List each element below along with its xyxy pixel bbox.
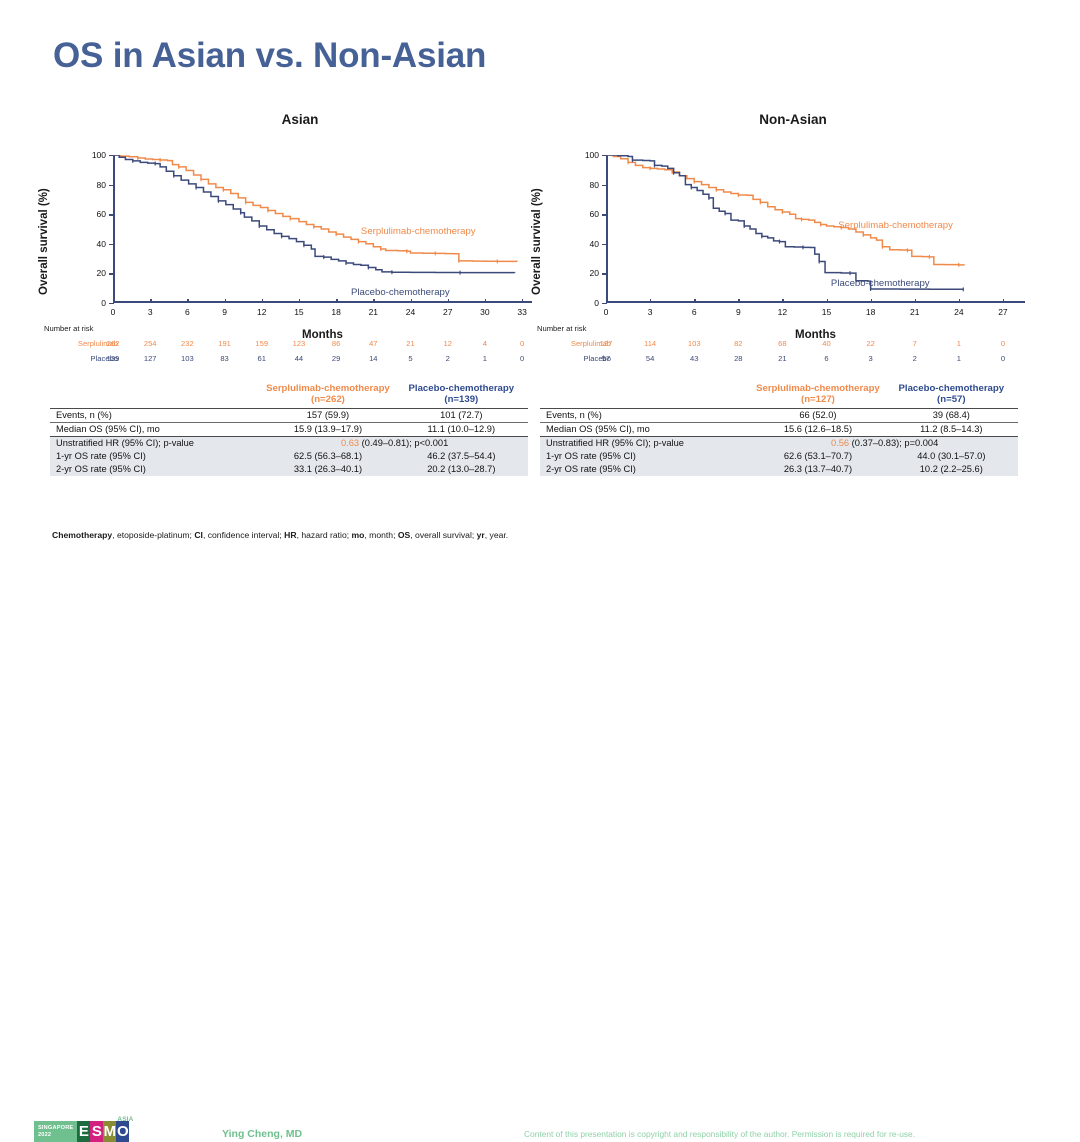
risk-value: 123: [293, 339, 306, 348]
x-tick-label: 30: [480, 307, 489, 317]
number-at-risk-title: Number at risk: [537, 324, 586, 333]
logo-year: 2022: [38, 1132, 73, 1139]
table-header-arm-a: Serplulimab-chemotherapy(n=262): [261, 381, 394, 408]
y-tick-label: 0: [594, 298, 599, 308]
risk-value: 2: [913, 354, 917, 363]
logo-letter-s: S: [90, 1121, 103, 1142]
x-tick-label: 12: [778, 307, 787, 317]
risk-value: 191: [218, 339, 231, 348]
table-row: 1-yr OS rate (95% CI)62.6 (53.1–70.7)44.…: [540, 450, 1018, 463]
table-row-label: Median OS (95% CI), mo: [540, 422, 751, 436]
table-header-arm-a: Serplulimab-chemotherapy(n=127): [751, 381, 884, 408]
x-tick-label: 15: [822, 307, 831, 317]
y-axis-label: Overall survival (%): [531, 188, 543, 295]
y-tick-label: 20: [590, 268, 599, 278]
table-cell-arm-b: 11.2 (8.5–14.3): [885, 422, 1018, 436]
risk-value: 21: [778, 354, 786, 363]
arm-a-n: (n=262): [263, 394, 392, 406]
table-row-hr-value: 0.56 (0.37–0.83); p=0.004: [751, 436, 1018, 450]
risk-value: 57: [602, 354, 610, 363]
table-cell-arm-b: 11.1 (10.0–12.9): [395, 422, 528, 436]
risk-value: 3: [869, 354, 873, 363]
logo-region: ASIA: [117, 1116, 133, 1123]
panel-non-asian: Non-AsianOverall survival (%)02040608010…: [533, 112, 1033, 318]
table-row-label: Unstratified HR (95% CI); p-value: [540, 436, 751, 450]
y-tick-label: 100: [92, 150, 106, 160]
table-header-row: Serplulimab-chemotherapy(n=262)Placebo-c…: [50, 381, 528, 408]
x-tick-label: 0: [111, 307, 116, 317]
x-tick-label: 6: [692, 307, 697, 317]
table-row-hr-value: 0.63 (0.49–0.81); p<0.001: [261, 436, 528, 450]
table-cell-arm-b: 10.2 (2.2–25.6): [885, 463, 1018, 476]
risk-value: 54: [646, 354, 654, 363]
arm-a-n: (n=127): [753, 394, 882, 406]
table-row: Median OS (95% CI), mo15.9 (13.9–17.9)11…: [50, 422, 528, 436]
copyright-notice: Content of this presentation is copyrigh…: [524, 1129, 915, 1139]
slide-footer: SINGAPORE 2022 E S M O ASIA Ying Cheng, …: [0, 560, 1080, 608]
table-header-arm-b: Placebo-chemotherapy(n=57): [885, 381, 1018, 408]
x-tick-label: 21: [369, 307, 378, 317]
chart-title-non-asian: Non-Asian: [533, 112, 1033, 127]
table-row-label: 2-yr OS rate (95% CI): [540, 463, 751, 476]
risk-value: 0: [1001, 339, 1005, 348]
footnote-part-2: CI: [194, 530, 203, 540]
risk-value: 21: [406, 339, 414, 348]
table-row: Events, n (%)157 (59.9)101 (72.7): [50, 408, 528, 422]
table-row: 1-yr OS rate (95% CI)62.5 (56.3–68.1)46.…: [50, 450, 528, 463]
risk-row: Placebo575443282163210: [533, 354, 1033, 367]
logo-letter-o: O: [116, 1121, 129, 1142]
table-cell-arm-a: 62.6 (53.1–70.7): [751, 450, 884, 463]
results-table-non-asian: Serplulimab-chemotherapy(n=127)Placebo-c…: [540, 381, 1018, 476]
table-cell-arm-a: 15.6 (12.6–18.5): [751, 422, 884, 436]
table-cell-arm-a: 33.1 (26.3–40.1): [261, 463, 394, 476]
table-row: Unstratified HR (95% CI); p-value0.56 (0…: [540, 436, 1018, 450]
table-cell-arm-a: 66 (52.0): [751, 408, 884, 422]
logo-city: SINGAPORE: [38, 1125, 73, 1132]
y-tick: [109, 303, 114, 304]
x-tick-label: 27: [443, 307, 452, 317]
risk-value: 29: [332, 354, 340, 363]
curve-serplulimab: [606, 155, 965, 265]
x-tick-label: 24: [954, 307, 963, 317]
curve-placebo: [113, 155, 515, 273]
risk-value: 1: [957, 354, 961, 363]
arm-b-name: Placebo-chemotherapy: [887, 383, 1016, 395]
risk-value: 2: [446, 354, 450, 363]
x-tick-label: 3: [148, 307, 153, 317]
footnote-part-9: , overall survival;: [410, 530, 476, 540]
footnote-part-10: yr: [477, 530, 485, 540]
y-tick-label: 0: [101, 298, 106, 308]
x-tick-label: 24: [406, 307, 415, 317]
x-tick-label: 9: [736, 307, 741, 317]
table-cell-arm-b: 39 (68.4): [885, 408, 1018, 422]
arm-b-name: Placebo-chemotherapy: [397, 383, 526, 395]
y-tick-label: 40: [590, 239, 599, 249]
risk-value: 47: [369, 339, 377, 348]
x-tick-label: 21: [910, 307, 919, 317]
table-row-label: 1-yr OS rate (95% CI): [50, 450, 261, 463]
risk-value: 139: [107, 354, 120, 363]
curve-label-placebo: Placebo-chemotherapy: [351, 287, 450, 298]
x-tick-label: 3: [648, 307, 653, 317]
risk-value: 232: [181, 339, 194, 348]
risk-value: 127: [600, 339, 613, 348]
hr-ci-pvalue: (0.49–0.81); p<0.001: [359, 438, 448, 448]
risk-value: 12: [443, 339, 451, 348]
survival-curves: [606, 155, 1025, 303]
table-cell-arm-b: 44.0 (30.1–57.0): [885, 450, 1018, 463]
table-row-label: 2-yr OS rate (95% CI): [50, 463, 261, 476]
chart-asian: Overall survival (%)02040608010003691215…: [40, 133, 540, 318]
risk-value: 0: [520, 339, 524, 348]
x-tick-label: 9: [222, 307, 227, 317]
x-tick-label: 12: [257, 307, 266, 317]
footnote-part-7: , month;: [364, 530, 397, 540]
risk-value: 1: [483, 354, 487, 363]
y-tick-label: 60: [97, 209, 106, 219]
table-cell-arm-a: 15.9 (13.9–17.9): [261, 422, 394, 436]
table-header-row: Serplulimab-chemotherapy(n=127)Placebo-c…: [540, 381, 1018, 408]
risk-value: 159: [255, 339, 268, 348]
footnote-part-3: , confidence interval;: [203, 530, 284, 540]
table-cell-arm-b: 101 (72.7): [395, 408, 528, 422]
curve-label-serplulimab: Serplulimab-chemotherapy: [838, 220, 953, 231]
curve-label-placebo: Placebo-chemotherapy: [831, 278, 930, 289]
table-row: 2-yr OS rate (95% CI)33.1 (26.3–40.1)20.…: [50, 463, 528, 476]
plot-area: 02040608010003691215182124273033Serpluli…: [113, 155, 532, 303]
arm-b-n: (n=57): [887, 394, 1016, 406]
table-row-label: Events, n (%): [540, 408, 751, 422]
table-row: Median OS (95% CI), mo15.6 (12.6–18.5)11…: [540, 422, 1018, 436]
footnote: Chemotherapy, etoposide-platinum; CI, co…: [52, 530, 508, 540]
risk-value: 61: [258, 354, 266, 363]
footnote-part-8: OS: [398, 530, 410, 540]
table-row: 2-yr OS rate (95% CI)26.3 (13.7–40.7)10.…: [540, 463, 1018, 476]
presenter-name: Ying Cheng, MD: [222, 1128, 302, 1140]
footnote-part-5: , hazard ratio;: [297, 530, 352, 540]
risk-value: 82: [734, 339, 742, 348]
table-cell-arm-b: 46.2 (37.5–54.4): [395, 450, 528, 463]
plot-area: 0204060801000369121518212427Serplulimab-…: [606, 155, 1025, 303]
x-tick-label: 33: [517, 307, 526, 317]
y-axis-label: Overall survival (%): [38, 188, 50, 295]
risk-value: 262: [107, 339, 120, 348]
esmo-logo: SINGAPORE 2022 E S M O ASIA: [34, 1121, 129, 1142]
logo-singapore-block: SINGAPORE 2022: [34, 1121, 77, 1142]
risk-value: 44: [295, 354, 303, 363]
table-row-label: Median OS (95% CI), mo: [50, 422, 261, 436]
risk-value: 14: [369, 354, 377, 363]
y-tick-label: 100: [585, 150, 599, 160]
table-header-blank: [540, 381, 751, 408]
results-table-asian: Serplulimab-chemotherapy(n=262)Placebo-c…: [50, 381, 528, 476]
y-tick-label: 80: [590, 180, 599, 190]
page-title: OS in Asian vs. Non-Asian: [53, 36, 486, 76]
risk-value: 0: [1001, 354, 1005, 363]
risk-row: Serplulimab12711410382684022710: [533, 339, 1033, 352]
x-tick-label: 18: [866, 307, 875, 317]
number-at-risk-title: Number at risk: [44, 324, 93, 333]
table-row: Unstratified HR (95% CI); p-value0.63 (0…: [50, 436, 528, 450]
x-tick-label: 18: [331, 307, 340, 317]
chart-title-asian: Asian: [40, 112, 540, 127]
footnote-part-6: mo: [352, 530, 365, 540]
table-header-blank: [50, 381, 261, 408]
table-cell-arm-a: 26.3 (13.7–40.7): [751, 463, 884, 476]
arm-a-name: Serplulimab-chemotherapy: [753, 383, 882, 395]
risk-row-name: Placebo: [541, 354, 611, 363]
footnote-part-1: , etoposide-platinum;: [112, 530, 194, 540]
risk-value: 114: [644, 339, 656, 348]
curve-label-serplulimab: Serplulimab-chemotherapy: [361, 226, 476, 237]
panel-asian: AsianOverall survival (%)020406080100036…: [40, 112, 540, 318]
risk-value: 103: [181, 354, 194, 363]
x-tick-label: 6: [185, 307, 190, 317]
slide-root: OS in Asian vs. Non-Asian AsianOverall s…: [0, 0, 1080, 608]
logo-esmo-letters: E S M O ASIA: [77, 1121, 129, 1142]
hr-point-estimate: 0.56: [831, 438, 849, 448]
risk-value: 68: [778, 339, 786, 348]
table-cell-arm-a: 157 (59.9): [261, 408, 394, 422]
chart-non-asian: Overall survival (%)02040608010003691215…: [533, 133, 1033, 318]
risk-value: 4: [483, 339, 487, 348]
x-tick-label: 15: [294, 307, 303, 317]
risk-value: 0: [520, 354, 524, 363]
y-tick-label: 40: [97, 239, 106, 249]
risk-value: 22: [866, 339, 874, 348]
risk-value: 1: [957, 339, 961, 348]
table-cell-arm-a: 62.5 (56.3–68.1): [261, 450, 394, 463]
arm-b-n: (n=139): [397, 394, 526, 406]
arm-a-name: Serplulimab-chemotherapy: [263, 383, 392, 395]
y-tick: [602, 303, 607, 304]
risk-value: 40: [822, 339, 830, 348]
x-tick-label: 27: [998, 307, 1007, 317]
risk-value: 86: [332, 339, 340, 348]
table-row: Events, n (%)66 (52.0)39 (68.4): [540, 408, 1018, 422]
risk-value: 7: [913, 339, 917, 348]
hr-ci-pvalue: (0.37–0.83); p=0.004: [849, 438, 938, 448]
risk-value: 5: [408, 354, 412, 363]
risk-value: 28: [734, 354, 742, 363]
footnote-part-11: , year.: [485, 530, 508, 540]
table-row-label: 1-yr OS rate (95% CI): [540, 450, 751, 463]
table-header-arm-b: Placebo-chemotherapy(n=139): [395, 381, 528, 408]
risk-value: 254: [144, 339, 157, 348]
risk-value: 83: [220, 354, 228, 363]
footnote-part-4: HR: [284, 530, 296, 540]
risk-value: 6: [824, 354, 828, 363]
y-tick-label: 80: [97, 180, 106, 190]
risk-value: 127: [144, 354, 157, 363]
footnote-part-0: Chemotherapy: [52, 530, 112, 540]
table-cell-arm-b: 20.2 (13.0–28.7): [395, 463, 528, 476]
risk-row: Placebo13912710383614429145210: [40, 354, 540, 367]
logo-letter-m: M: [103, 1121, 116, 1142]
logo-letter-e: E: [77, 1121, 90, 1142]
table-row-label: Events, n (%): [50, 408, 261, 422]
risk-value: 103: [688, 339, 701, 348]
hr-point-estimate: 0.63: [341, 438, 359, 448]
y-tick-label: 60: [590, 209, 599, 219]
y-tick-label: 20: [97, 268, 106, 278]
risk-value: 43: [690, 354, 698, 363]
x-tick-label: 0: [604, 307, 609, 317]
table-row-label: Unstratified HR (95% CI); p-value: [50, 436, 261, 450]
risk-row: Serplulimab2622542321911591238647211240: [40, 339, 540, 352]
